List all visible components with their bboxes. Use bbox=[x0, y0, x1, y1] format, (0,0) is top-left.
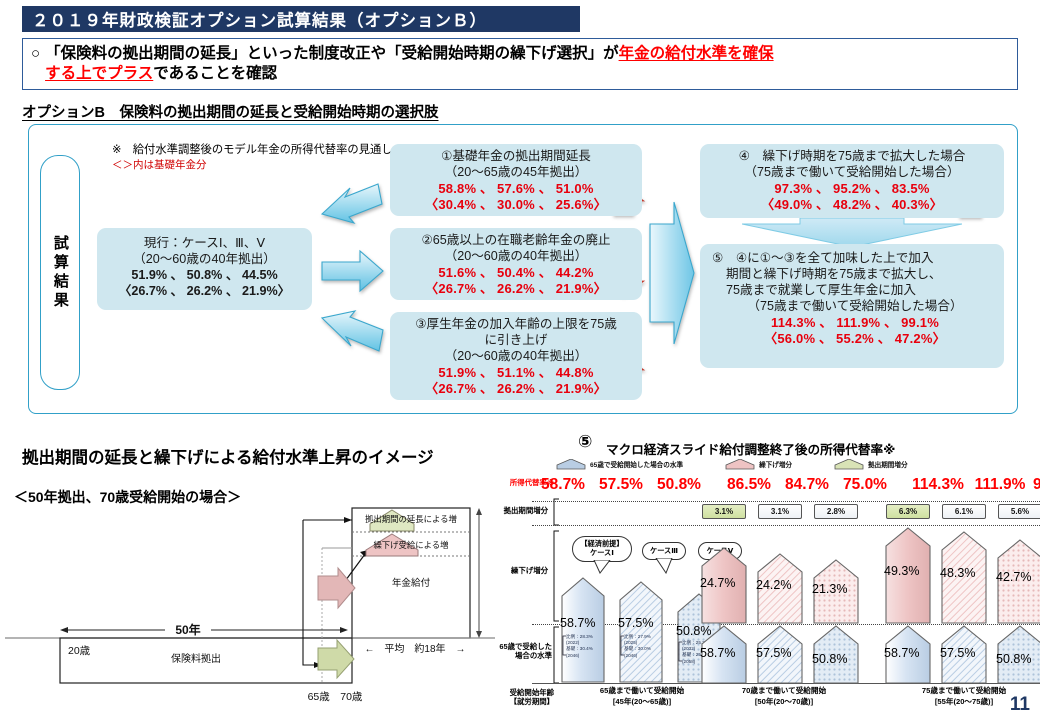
detail-bracket-icon bbox=[561, 635, 567, 657]
box-option5-line2: 期間と繰下げ時期を75歳まで拡大し、 bbox=[712, 267, 998, 283]
bar-base-g2-c3 bbox=[812, 592, 860, 684]
bar-base-g2-c2 bbox=[756, 580, 804, 684]
lower-left-heading: 拠出期間の延長と繰下げによる給付水準上昇のイメージ bbox=[22, 444, 434, 468]
box-option2-line1: ②65歳以上の在職老齢年金の廃止 bbox=[396, 233, 636, 249]
axis-label-defer-increment: 繰下げ増分 bbox=[496, 566, 548, 575]
note-line-1: ※ 給付水準調整後のモデル年金の所得代替率の見通し。 bbox=[112, 142, 404, 158]
bar-label-base-g3-c2: 57.5% bbox=[940, 646, 988, 660]
box-current-line2: （20～60歳の40年拠出） bbox=[103, 252, 306, 268]
box-option5-line1: ⑤ ④に①～③を全て加味した上で加入 bbox=[712, 251, 998, 267]
legend-label-contrib: 拠出期間増分 bbox=[868, 459, 908, 469]
total-value-g3-c3: 99.1% bbox=[1026, 476, 1040, 494]
bar-label-base-g2-c1: 58.7% bbox=[700, 646, 748, 660]
arrow-to-right-column bbox=[648, 188, 696, 358]
box-option1-values: 58.8% 、 57.6% 、 51.0% bbox=[396, 181, 636, 198]
total-value-g1-c3: 50.8% bbox=[648, 476, 710, 494]
lead-text-part2: であることを確認 bbox=[153, 65, 277, 82]
chart-total-values-row: 58.7% 57.5% 50.8% 86.5% 84.7% 75.0% 114.… bbox=[532, 476, 1040, 498]
bar-base-g3-c3 bbox=[996, 592, 1040, 684]
total-value-g3-c1: 114.3% bbox=[904, 476, 972, 494]
box-option4: ④ 繰下げ時期を75歳まで拡大した場合 （75歳まで働いて受給開始した場合） 9… bbox=[700, 144, 1004, 218]
bar-base-g1-c2 bbox=[618, 580, 664, 684]
legend-swatch-contrib-icon bbox=[834, 459, 864, 470]
legend-label-defer: 繰下げ増分 bbox=[759, 459, 792, 469]
box-option3-line2: に引き上げ bbox=[396, 333, 636, 349]
box-option5-values: 114.3% 、 111.9% 、 99.1% bbox=[712, 315, 998, 332]
slide-root: ２０１９年財政検証オプション試算結果（オプションＢ） ○ 「保険料の拠出期間の延… bbox=[0, 0, 1040, 718]
svg-text:拠出期間の延長による増: 拠出期間の延長による増 bbox=[365, 514, 457, 524]
bar-label-base-g1-c1: 58.7% bbox=[560, 616, 606, 630]
total-value-g2-c3: 75.0% bbox=[834, 476, 896, 494]
box-option5-line3: 75歳まで就業して厚生年金に加入 bbox=[712, 283, 998, 299]
bar-base-g1-c1 bbox=[560, 576, 606, 684]
svg-text:保険料拠出: 保険料拠出 bbox=[171, 652, 221, 665]
box-option1-line2: （20～65歳の45年拠出） bbox=[396, 165, 636, 181]
lead-statement-box: ○ 「保険料の拠出期間の延長」といった制度改正や「受給開始時期の繰下げ選択」が年… bbox=[22, 38, 1018, 90]
page-number: 11 bbox=[1010, 694, 1030, 716]
contrib-chip-g3-c3: 5.6% bbox=[998, 504, 1040, 519]
total-value-g1-c2: 57.5% bbox=[590, 476, 652, 494]
chart-circled-number: ⑤ bbox=[578, 432, 592, 452]
total-value-g3-c2: 111.9% bbox=[966, 476, 1034, 494]
box-option3-line1: ③厚生年金の加入年齢の上限を75歳 bbox=[396, 317, 636, 333]
lead-text-part1: 「保険料の拠出期間の延長」といった制度改正や「受給開始時期の繰下げ選択」が bbox=[45, 45, 619, 62]
bracket-base-icon bbox=[552, 626, 560, 684]
svg-text:年金給付: 年金給付 bbox=[392, 577, 431, 589]
svg-text:50年: 50年 bbox=[175, 622, 200, 637]
bar-base-g3-c2 bbox=[940, 580, 988, 684]
section-heading: オプションB 保険料の拠出期間の延長と受給開始時期の選択肢 bbox=[22, 101, 438, 122]
bracket-defer-icon bbox=[552, 530, 560, 622]
legend-swatch-base-icon bbox=[556, 459, 586, 470]
box-option2-values: 51.6% 、 50.4% 、 44.2% bbox=[396, 265, 636, 282]
box-current-base-values: 〈26.7% 、 26.2% 、 21.9%〉 bbox=[103, 284, 306, 300]
chart-legend: 65歳で受給開始した場合の水準 繰下げ増分 拠出期間増分 bbox=[556, 456, 956, 472]
bullet-circle-icon: ○ bbox=[31, 44, 40, 64]
legend-item-contrib: 拠出期間増分 bbox=[834, 459, 908, 470]
bar-label-base-g2-c2: 57.5% bbox=[756, 646, 804, 660]
total-value-g2-c1: 86.5% bbox=[718, 476, 780, 494]
box-option5-line4: （75歳まで働いて受給開始した場合） bbox=[712, 299, 998, 315]
legend-label-base: 65歳で受給開始した場合の水準 bbox=[590, 459, 683, 469]
box-option2-base-values: 〈26.7% 、 26.2% 、 21.9%〉 bbox=[396, 281, 636, 298]
calc-result-tab-label: 試算結果 bbox=[51, 235, 69, 311]
case-bubble-label-1: ケースⅠ bbox=[590, 549, 614, 558]
legend-item-defer: 繰下げ増分 bbox=[725, 459, 792, 470]
legend-swatch-defer-icon bbox=[725, 459, 755, 470]
bar-base-g2-c1 bbox=[700, 576, 748, 684]
box-option1-line1: ①基礎年金の拠出期間延長 bbox=[396, 149, 636, 165]
page-title: ２０１９年財政検証オプション試算結果（オプションＢ） bbox=[22, 6, 580, 32]
box-option4-base-values: 〈49.0% 、 48.2% 、 40.3%〉 bbox=[706, 197, 998, 214]
total-value-g2-c2: 84.7% bbox=[776, 476, 838, 494]
arrow-to-option1 bbox=[318, 178, 386, 230]
bar-label-base-g3-c1: 58.7% bbox=[884, 646, 932, 660]
box-option1-base-values: 〈30.4% 、 30.0% 、 25.6%〉 bbox=[396, 197, 636, 214]
box-option1: ①基礎年金の拠出期間延長 （20～65歳の45年拠出） 58.8% 、 57.6… bbox=[390, 144, 642, 216]
bar-detail-g1-c2: 比例：27.9% (2025) 基礎：30.0% (2046) bbox=[624, 634, 651, 659]
contribution-extension-diagram: 拠出期間の延長による増 繰下げ受給による増 年金給付 50年 20歳 保険料拠出… bbox=[0, 500, 500, 710]
contrib-chip-g3-c2: 6.1% bbox=[942, 504, 986, 519]
case-bubble-g1-c1: 【経済前提】 ケースⅠ bbox=[572, 536, 632, 562]
xaxis-label-group2: 70歳まで働いて受給開始 [50年(20～70歳)] bbox=[696, 686, 872, 707]
arrow-to-option2 bbox=[320, 248, 386, 294]
svg-text:← 平均 約18年 →: ← 平均 約18年 → bbox=[364, 642, 465, 655]
box-option3: ③厚生年金の加入年齢の上限を75歳 に引き上げ （20～60歳の40年拠出） 5… bbox=[390, 312, 642, 400]
axis-label-start-age: 受給開始年齢 【就労期間】 bbox=[496, 688, 554, 707]
svg-text:20歳: 20歳 bbox=[68, 645, 91, 657]
svg-text:65歳 70歳: 65歳 70歳 bbox=[308, 691, 363, 703]
box-option4-line1: ④ 繰下げ時期を75歳まで拡大した場合 bbox=[706, 149, 998, 165]
contrib-chip-g2-c1: 3.1% bbox=[702, 504, 746, 519]
box-current-line1: 現行：ケースⅠ、Ⅲ、Ⅴ bbox=[103, 236, 306, 252]
note-block: ※ 給付水準調整後のモデル年金の所得代替率の見通し。 ＜＞内は基礎年金分 bbox=[112, 142, 404, 174]
bubble-tail-g1-c2-icon bbox=[654, 558, 674, 574]
box-option2: ②65歳以上の在職老齢年金の廃止 （20～60歳の40年拠出） 51.6% 、 … bbox=[390, 228, 642, 300]
total-value-g1-c1: 58.7% bbox=[532, 476, 594, 494]
lead-highlight-2: する上でプラス bbox=[45, 65, 153, 82]
contrib-chip-g2-c3: 2.8% bbox=[814, 504, 858, 519]
lead-highlight-1: 年金の給付水準を確保 bbox=[619, 45, 774, 62]
svg-text:繰下げ受給による増: 繰下げ受給による増 bbox=[373, 540, 448, 550]
calc-result-tab: 試算結果 bbox=[40, 155, 80, 390]
box-current-values: 51.9% 、 50.8% 、 44.5% bbox=[103, 268, 306, 284]
axis-label-base-level: 65歳で受給した 場合の水準 bbox=[496, 642, 552, 661]
bar-base-g3-c1 bbox=[884, 576, 932, 684]
box-option2-line2: （20～60歳の40年拠出） bbox=[396, 249, 636, 265]
box-option5-base-values: 〈56.0% 、 55.2% 、 47.2%〉 bbox=[712, 331, 998, 348]
replacement-rate-chart: ⑤ マクロ経済スライド給付調整終了後の所得代替率※ 65歳で受給開始した場合の水… bbox=[496, 430, 1040, 718]
box-option3-values: 51.9% 、 51.1% 、 44.8% bbox=[396, 365, 636, 382]
bar-label-base-g2-c3: 50.8% bbox=[812, 652, 860, 666]
bar-label-base-g1-c2: 57.5% bbox=[618, 616, 664, 630]
bar-detail-g1-c1: 比例：28.3% (2022) 基礎：30.4% (2046) bbox=[566, 634, 593, 659]
bar-label-base-g3-c3: 50.8% bbox=[996, 652, 1040, 666]
box-option3-base-values: 〈26.7% 、 26.2% 、 21.9%〉 bbox=[396, 381, 636, 398]
bubble-tail-g1-c1-icon bbox=[592, 560, 612, 574]
bar-label-defer-g3-c2: 48.3% bbox=[940, 566, 988, 580]
contrib-chip-g2-c2: 3.1% bbox=[758, 504, 802, 519]
box-current-system: 現行：ケースⅠ、Ⅲ、Ⅴ （20～60歳の40年拠出） 51.9% 、 50.8%… bbox=[97, 228, 312, 310]
detail-bracket-icon bbox=[619, 635, 625, 657]
note-line-2: ＜＞内は基礎年金分 bbox=[112, 158, 404, 173]
contrib-chip-g3-c1: 6.3% bbox=[886, 504, 930, 519]
box-option4-values: 97.3% 、 95.2% 、 83.5% bbox=[706, 181, 998, 198]
legend-item-base: 65歳で受給開始した場合の水準 bbox=[556, 459, 683, 470]
box-option3-line3: （20～60歳の40年拠出） bbox=[396, 349, 636, 365]
bar-label-defer-g3-c3: 42.7% bbox=[996, 570, 1040, 584]
box-option5: ⑤ ④に①～③を全て加味した上で加入 期間と繰下げ時期を75歳まで拡大し、 75… bbox=[700, 244, 1004, 368]
arrow-to-option3 bbox=[318, 306, 386, 358]
detail-bracket-icon bbox=[677, 641, 683, 663]
box-option4-line2: （75歳まで働いて受給開始した場合） bbox=[706, 165, 998, 181]
